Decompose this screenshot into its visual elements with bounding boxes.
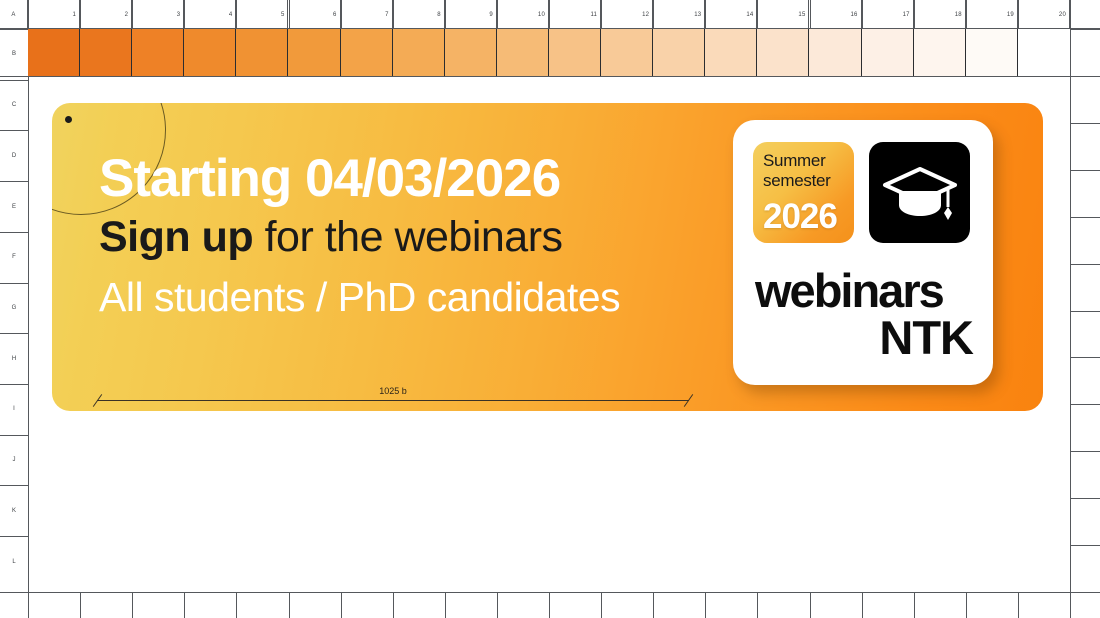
row-ruler-divider (28, 0, 29, 600)
bottom-ruler-tick (132, 592, 133, 618)
column-grid-line (705, 0, 706, 29)
column-grid-line (966, 0, 967, 29)
banner-start-date: Starting 04/03/2026 (99, 151, 739, 207)
column-label-19[interactable]: 19 (966, 0, 1018, 29)
color-swatch-15[interactable] (757, 29, 809, 76)
row-label-J[interactable]: J (0, 435, 28, 486)
column-label-20[interactable]: 20 (1018, 0, 1070, 29)
semester-line-2: semester (763, 171, 848, 191)
row-label-F[interactable]: F (0, 232, 28, 283)
bottom-ruler-tick (810, 592, 811, 618)
column-label-4[interactable]: 4 (184, 0, 236, 29)
row-label-G[interactable]: G (0, 283, 28, 334)
right-grid-row-line (1070, 404, 1100, 405)
column-grid-line (601, 0, 602, 29)
color-swatch-4[interactable] (184, 29, 236, 76)
color-swatch-8[interactable] (393, 29, 445, 76)
row-label-C[interactable]: C (0, 80, 28, 131)
right-grid-row-line (1070, 29, 1100, 30)
column-label-17[interactable]: 17 (862, 0, 914, 29)
semester-year: 2026 (763, 197, 837, 237)
column-grid-line (236, 0, 237, 29)
row-label-I[interactable]: I (0, 384, 28, 435)
color-swatch-20[interactable] (1018, 29, 1070, 76)
right-grid-row-line (1070, 76, 1100, 77)
row-label-K[interactable]: K (0, 485, 28, 536)
color-swatch-13[interactable] (653, 29, 705, 76)
column-label-15[interactable]: 15 (757, 0, 809, 29)
banner-audience-line: All students / PhD candidates (99, 268, 739, 326)
webinars-ntk-logo-card[interactable]: Summer semester 2026 webinars NTK (733, 120, 993, 385)
color-swatch-12[interactable] (601, 29, 653, 76)
right-grid-row-line (1070, 545, 1100, 546)
column-label-12[interactable]: 12 (601, 0, 653, 29)
design-canvas: A1234567891011121314151617181920 BCDEFGH… (0, 0, 1100, 618)
right-grid-row-line (1070, 264, 1100, 265)
right-grid-column (1070, 0, 1100, 618)
column-grid-line (1070, 0, 1071, 29)
right-grid-row-line (1070, 451, 1100, 452)
logo-wordmark: webinars NTK (755, 268, 973, 362)
bottom-ruler-tick (80, 592, 81, 618)
wordmark-ntk: NTK (755, 314, 973, 362)
semester-line-1: Summer (763, 151, 848, 171)
color-swatch-16[interactable] (809, 29, 861, 76)
right-grid-row-line (1070, 311, 1100, 312)
row-label-H[interactable]: H (0, 333, 28, 384)
column-label-16[interactable]: 16 (810, 0, 862, 29)
bottom-ruler-tick (1018, 592, 1019, 618)
color-swatch-strip[interactable] (28, 29, 1070, 76)
column-label-14[interactable]: 14 (705, 0, 757, 29)
column-grid-line (914, 0, 915, 29)
bottom-ruler-tick (653, 592, 654, 618)
column-grid-line (862, 0, 863, 29)
bottom-ruler-tick (445, 592, 446, 618)
color-swatch-2[interactable] (80, 29, 132, 76)
bottom-ruler-tick (601, 592, 602, 618)
color-swatch-11[interactable] (549, 29, 601, 76)
column-ruler[interactable]: A1234567891011121314151617181920 (0, 0, 1100, 29)
summer-semester-badge: Summer semester 2026 (753, 142, 854, 243)
width-dimension-annotation: 1025 b (97, 386, 689, 408)
row-label-D[interactable]: D (0, 130, 28, 181)
right-grid-row-line (1070, 357, 1100, 358)
bottom-ruler-tick (862, 592, 863, 618)
decorative-dot-icon (65, 116, 72, 123)
logo-badge-row: Summer semester 2026 (753, 142, 970, 243)
row-label-L[interactable]: L (0, 536, 28, 587)
column-grid-line (393, 0, 394, 29)
column-label-5[interactable]: 5 (236, 0, 288, 29)
column-label-6[interactable]: 6 (289, 0, 341, 29)
column-label-1[interactable]: 1 (28, 0, 80, 29)
bottom-ruler-tick (28, 592, 29, 618)
column-label-9[interactable]: 9 (445, 0, 497, 29)
column-grid-line (445, 0, 446, 29)
row-ruler[interactable]: BCDEFGHIJKL (0, 0, 28, 618)
right-grid-row-line (1070, 170, 1100, 171)
color-swatch-14[interactable] (705, 29, 757, 76)
color-swatch-3[interactable] (132, 29, 184, 76)
column-label-10[interactable]: 10 (497, 0, 549, 29)
right-grid-row-line (1070, 217, 1100, 218)
bottom-ruler-tick (549, 592, 550, 618)
color-swatch-6[interactable] (288, 29, 340, 76)
wordmark-webinars: webinars (755, 268, 973, 314)
bottom-ruler-tick (705, 592, 706, 618)
right-grid-line (1070, 0, 1071, 618)
column-label-7[interactable]: 7 (341, 0, 393, 29)
column-label-3[interactable]: 3 (132, 0, 184, 29)
bottom-ruler-tick (757, 592, 758, 618)
color-swatch-7[interactable] (341, 29, 393, 76)
column-grid-line (132, 0, 133, 29)
bottom-ruler-tick (497, 592, 498, 618)
dimension-label: 1025 b (97, 386, 689, 396)
bottom-ruler-tick (1070, 592, 1071, 618)
column-grid-line (80, 0, 81, 29)
column-label-18[interactable]: 18 (914, 0, 966, 29)
column-label-13[interactable]: 13 (653, 0, 705, 29)
column-grid-line (497, 0, 498, 29)
row-label-B[interactable]: B (0, 29, 28, 80)
dimension-bar (97, 400, 689, 401)
column-grid-line (549, 0, 550, 29)
bottom-ruler-tick (289, 592, 290, 618)
column-label-2[interactable]: 2 (80, 0, 132, 29)
bottom-ruler-tick (236, 592, 237, 618)
column-label-11[interactable]: 11 (549, 0, 601, 29)
bottom-ruler-tick (966, 592, 967, 618)
column-grid-line (1018, 0, 1019, 29)
swatch-bottom-divider (0, 76, 1100, 77)
right-grid-row-line (1070, 498, 1100, 499)
graduation-cap-badge (869, 142, 970, 243)
bottom-ruler-tick (184, 592, 185, 618)
column-grid-line (28, 0, 29, 29)
column-grid-line (289, 0, 290, 29)
banner-signup-bold: Sign up (99, 213, 253, 261)
semester-text: Summer semester (763, 151, 848, 191)
color-swatch-17[interactable] (862, 29, 914, 76)
banner-signup-rest: for the webinars (253, 213, 562, 261)
column-grid-line (810, 0, 811, 29)
bottom-ruler-tick (914, 592, 915, 618)
color-swatch-19[interactable] (966, 29, 1018, 76)
right-grid-row-line (1070, 123, 1100, 124)
column-grid-line (653, 0, 654, 29)
color-swatch-1[interactable] (28, 29, 80, 76)
column-grid-line (341, 0, 342, 29)
bottom-ruler[interactable] (0, 592, 1100, 618)
column-label-8[interactable]: 8 (393, 0, 445, 29)
color-swatch-10[interactable] (497, 29, 549, 76)
bottom-ruler-tick (341, 592, 342, 618)
row-label-E[interactable]: E (0, 181, 28, 232)
banner-headline-group: Starting 04/03/2026 Sign up for the webi… (99, 151, 739, 326)
banner-signup-line: Sign up for the webinars (99, 207, 739, 268)
column-grid-line (757, 0, 758, 29)
bottom-ruler-tick (393, 592, 394, 618)
color-swatch-9[interactable] (445, 29, 497, 76)
promo-banner[interactable]: Starting 04/03/2026 Sign up for the webi… (52, 103, 1043, 411)
graduation-cap-icon (882, 163, 958, 223)
color-swatch-18[interactable] (914, 29, 966, 76)
color-swatch-5[interactable] (236, 29, 288, 76)
column-grid-line (184, 0, 185, 29)
